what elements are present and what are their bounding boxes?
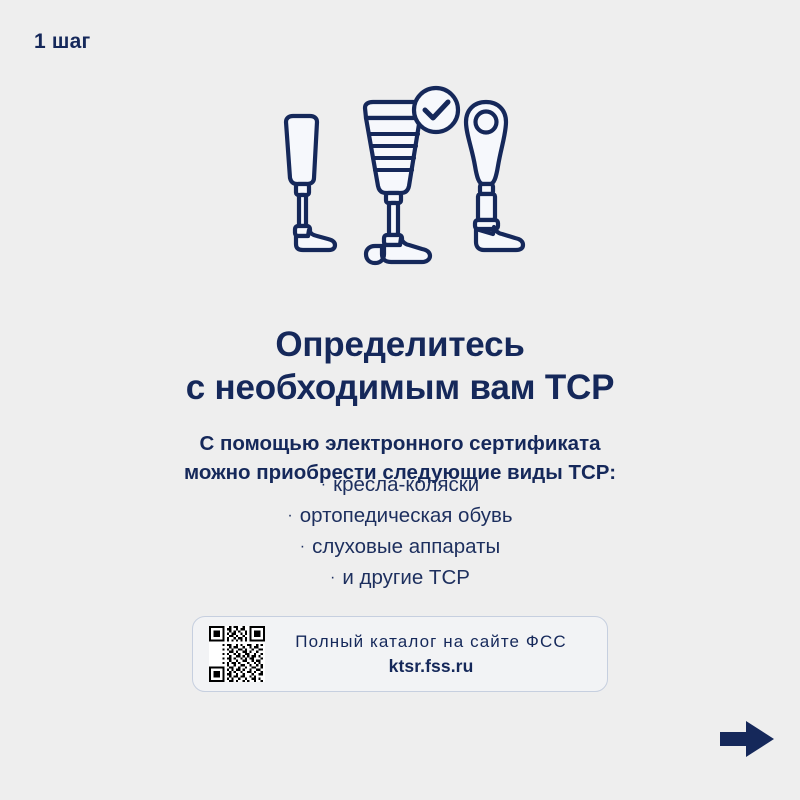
list-item-label: слуховые аппараты [312, 537, 500, 558]
list-item: · кресла-коляски [0, 470, 800, 501]
prosthetic-leg-center-selected [365, 88, 458, 263]
list-item: · и другие ТСР [0, 563, 800, 594]
list-item-label: кресла-коляски [333, 475, 479, 496]
step-label: 1 шаг [34, 30, 90, 54]
bullet-icon: · [300, 539, 305, 555]
page-title: Определитесь с необходимым вам ТСР [0, 323, 800, 409]
list-item: · ортопедическая обувь [0, 501, 800, 532]
list-item: · слуховые аппараты [0, 532, 800, 563]
intro-text-line-1: С помощью электронного сертификата [40, 429, 760, 458]
tsr-types-list: · кресла-коляски · ортопедическая обувь … [0, 470, 800, 594]
arrow-right-icon[interactable] [718, 718, 776, 760]
list-item-label: ортопедическая обувь [300, 506, 513, 527]
prosthetics-illustration-svg [270, 82, 530, 272]
list-item-label: и другие ТСР [342, 568, 470, 589]
bullet-icon: · [330, 570, 335, 586]
prosthetic-leg-right [466, 102, 523, 250]
catalog-url[interactable]: ktsr.fss.ru [269, 654, 593, 679]
bullet-icon: · [321, 477, 326, 493]
next-arrow-button[interactable] [718, 718, 776, 760]
catalog-qr-text: Полный каталог на сайте ФСС ktsr.fss.ru [265, 629, 607, 680]
catalog-caption: Полный каталог на сайте ФСС [269, 629, 593, 655]
bullet-icon: · [287, 508, 292, 524]
page-title-line-2: с необходимым вам ТСР [40, 366, 760, 409]
slide-root: 1 шаг [0, 0, 800, 800]
qr-code-icon[interactable] [209, 626, 265, 682]
catalog-qr-panel[interactable]: Полный каталог на сайте ФСС ktsr.fss.ru [192, 616, 608, 692]
prosthetic-leg-left [286, 116, 335, 250]
prosthetics-illustration [0, 82, 800, 272]
page-title-line-1: Определитесь [40, 323, 760, 366]
